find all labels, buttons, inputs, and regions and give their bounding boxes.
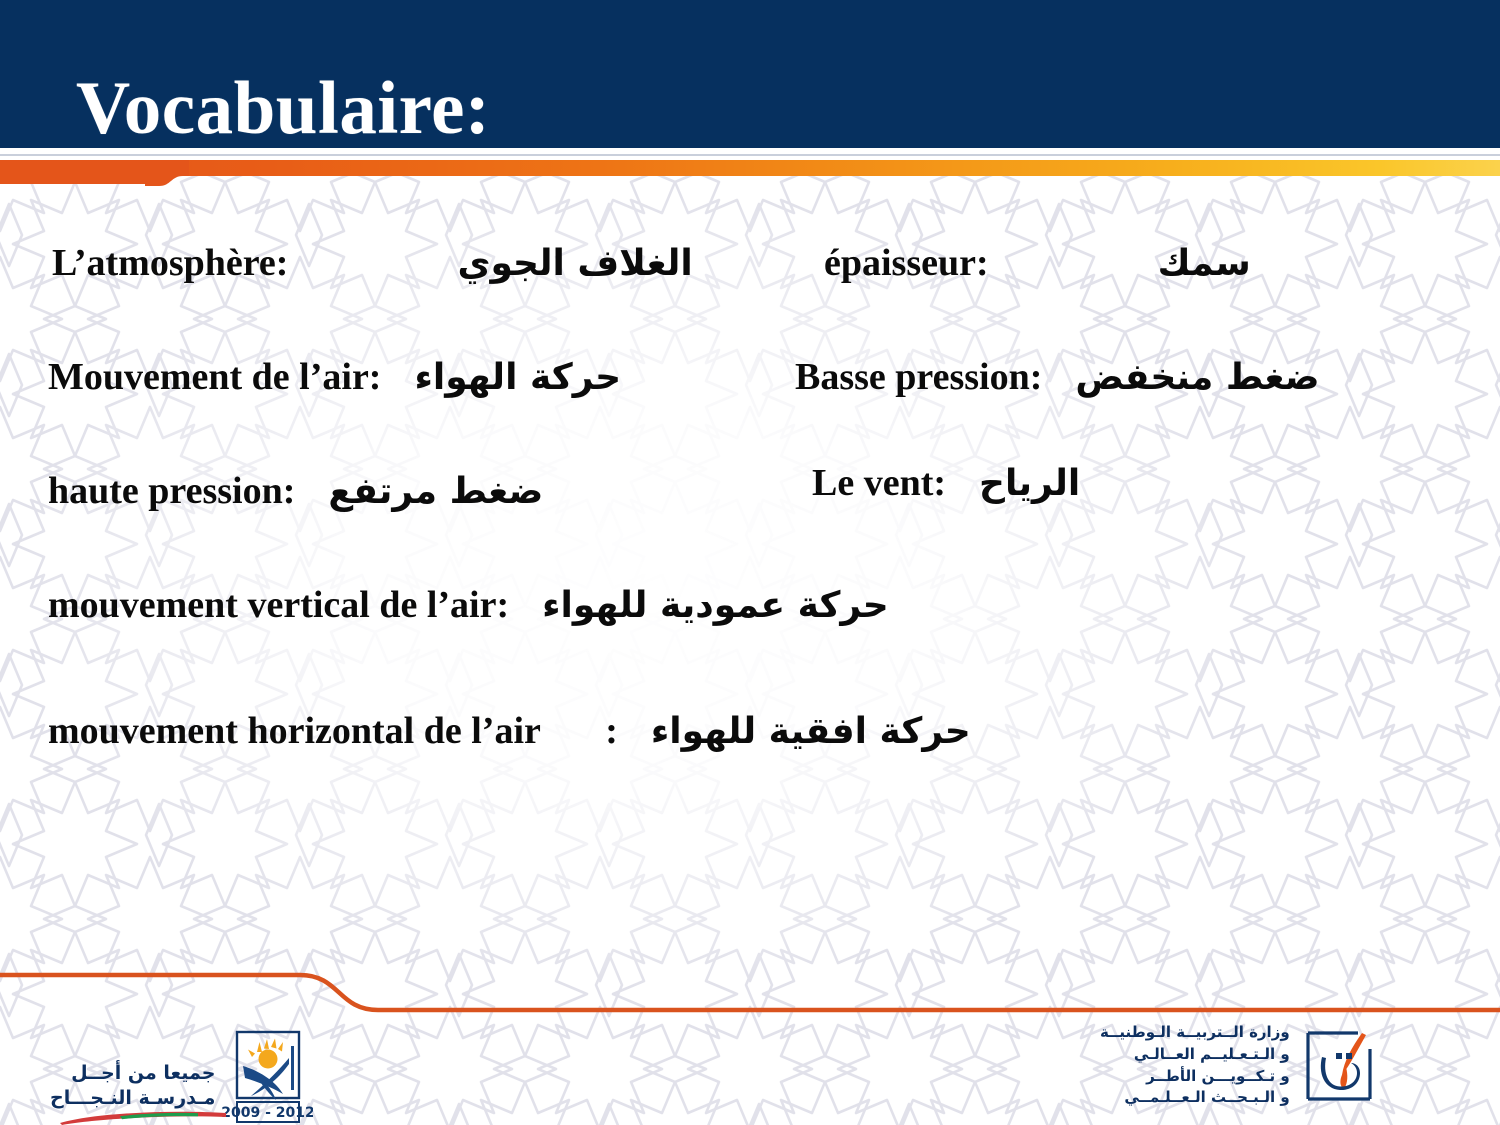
school-years-label: 2009 - 2012 [222, 1105, 314, 1121]
ministry-line-3: و تـكــويـــن الأطــر [1100, 1066, 1290, 1088]
vocab-row-haute-pression: haute pression: ضغط مرتفع [48, 470, 543, 514]
vocab-fr-haute-pression: haute pression: [48, 470, 295, 512]
vocab-fr-epaisseur: épaisseur: [824, 242, 989, 284]
header-accent-rule-thick [0, 160, 158, 184]
header-hairline [0, 154, 1500, 156]
ministry-name: وزارة الــتربيــة الـوطنيــة و الـتـعـلي… [1100, 1022, 1290, 1109]
flag-swoosh-icon [58, 1110, 228, 1125]
page-title: Vocabulaire: [76, 68, 490, 151]
vocabulary-content: L’atmosphère: الغلاف الجوي épaisseur: سم… [0, 190, 1500, 950]
vocab-ar-atmosphere: الغلاف الجوي [457, 243, 692, 284]
footer-divider-curve [0, 955, 1500, 1025]
vocab-fr-mouvement-vertical: mouvement vertical de l’air: [48, 584, 509, 626]
slide-canvas: Vocabulaire: L’atmosphère: الغلاف الجوي … [0, 0, 1500, 1125]
vocab-fr-atmosphere: L’atmosphère: [52, 242, 288, 284]
ministry-line-2: و الـتـعـليــم العــالـي [1100, 1044, 1290, 1066]
vocab-row-epaisseur: épaisseur: سمك [824, 242, 1251, 286]
vocab-ar-haute-pression: ضغط مرتفع [328, 471, 543, 512]
header-accent-rule [0, 160, 1500, 176]
vocab-ar-mouvement-vertical: حركة عمودية للهواء [542, 585, 889, 626]
vocab-row-le-vent: Le vent: الرياح [812, 462, 1080, 506]
school-emblem-icon: 2009 - 2012 [221, 1030, 313, 1125]
ministry-logo: وزارة الــتربيــة الـوطنيــة و الـتـعـلي… [1100, 1022, 1378, 1109]
vocab-ar-mouvement-horizontal: حركة افقية للهواء [651, 711, 971, 752]
ministry-line-4: و الـبـحــث الـعــلـمــي [1100, 1087, 1290, 1109]
school-campaign-logo: جميعا من أجــل مـدرسـة النـجـــاح [50, 1030, 313, 1125]
header-accent-curve [145, 160, 189, 186]
vocab-fr-mouvement-air: Mouvement de l’air: [48, 356, 381, 398]
ministry-line-1: وزارة الــتربيــة الـوطنيــة [1100, 1022, 1290, 1044]
vocab-separator-colon: : [605, 710, 618, 752]
school-slogan-line-1: جميعا من أجــل [50, 1061, 215, 1087]
vocab-fr-le-vent: Le vent: [812, 462, 946, 504]
vocab-row-mouvement-air: Mouvement de l’air: حركة الهواء [48, 356, 621, 400]
vocab-row-mouvement-vertical: mouvement vertical de l’air: حركة عمودية… [48, 584, 889, 628]
vocab-ar-le-vent: الرياح [979, 463, 1080, 504]
vocab-fr-mouvement-horizontal: mouvement horizontal de l’air [48, 710, 540, 752]
vocab-ar-mouvement-air: حركة الهواء [414, 357, 621, 398]
vocab-row-mouvement-horizontal: mouvement horizontal de l’air : حركة افق… [48, 710, 971, 754]
vocab-ar-basse-pression: ضغط منخفض [1075, 357, 1319, 398]
vocab-fr-basse-pression: Basse pression: [795, 356, 1042, 398]
ministry-emblem-icon [1300, 1027, 1378, 1105]
vocab-row-basse-pression: Basse pression: ضغط منخفض [795, 356, 1320, 400]
vocab-row-atmosphere: L’atmosphère: الغلاف الجوي [52, 242, 693, 286]
school-slogan-line-2: مـدرسـة النـجـــاح [50, 1086, 215, 1112]
vocab-ar-epaisseur: سمك [1158, 243, 1251, 284]
